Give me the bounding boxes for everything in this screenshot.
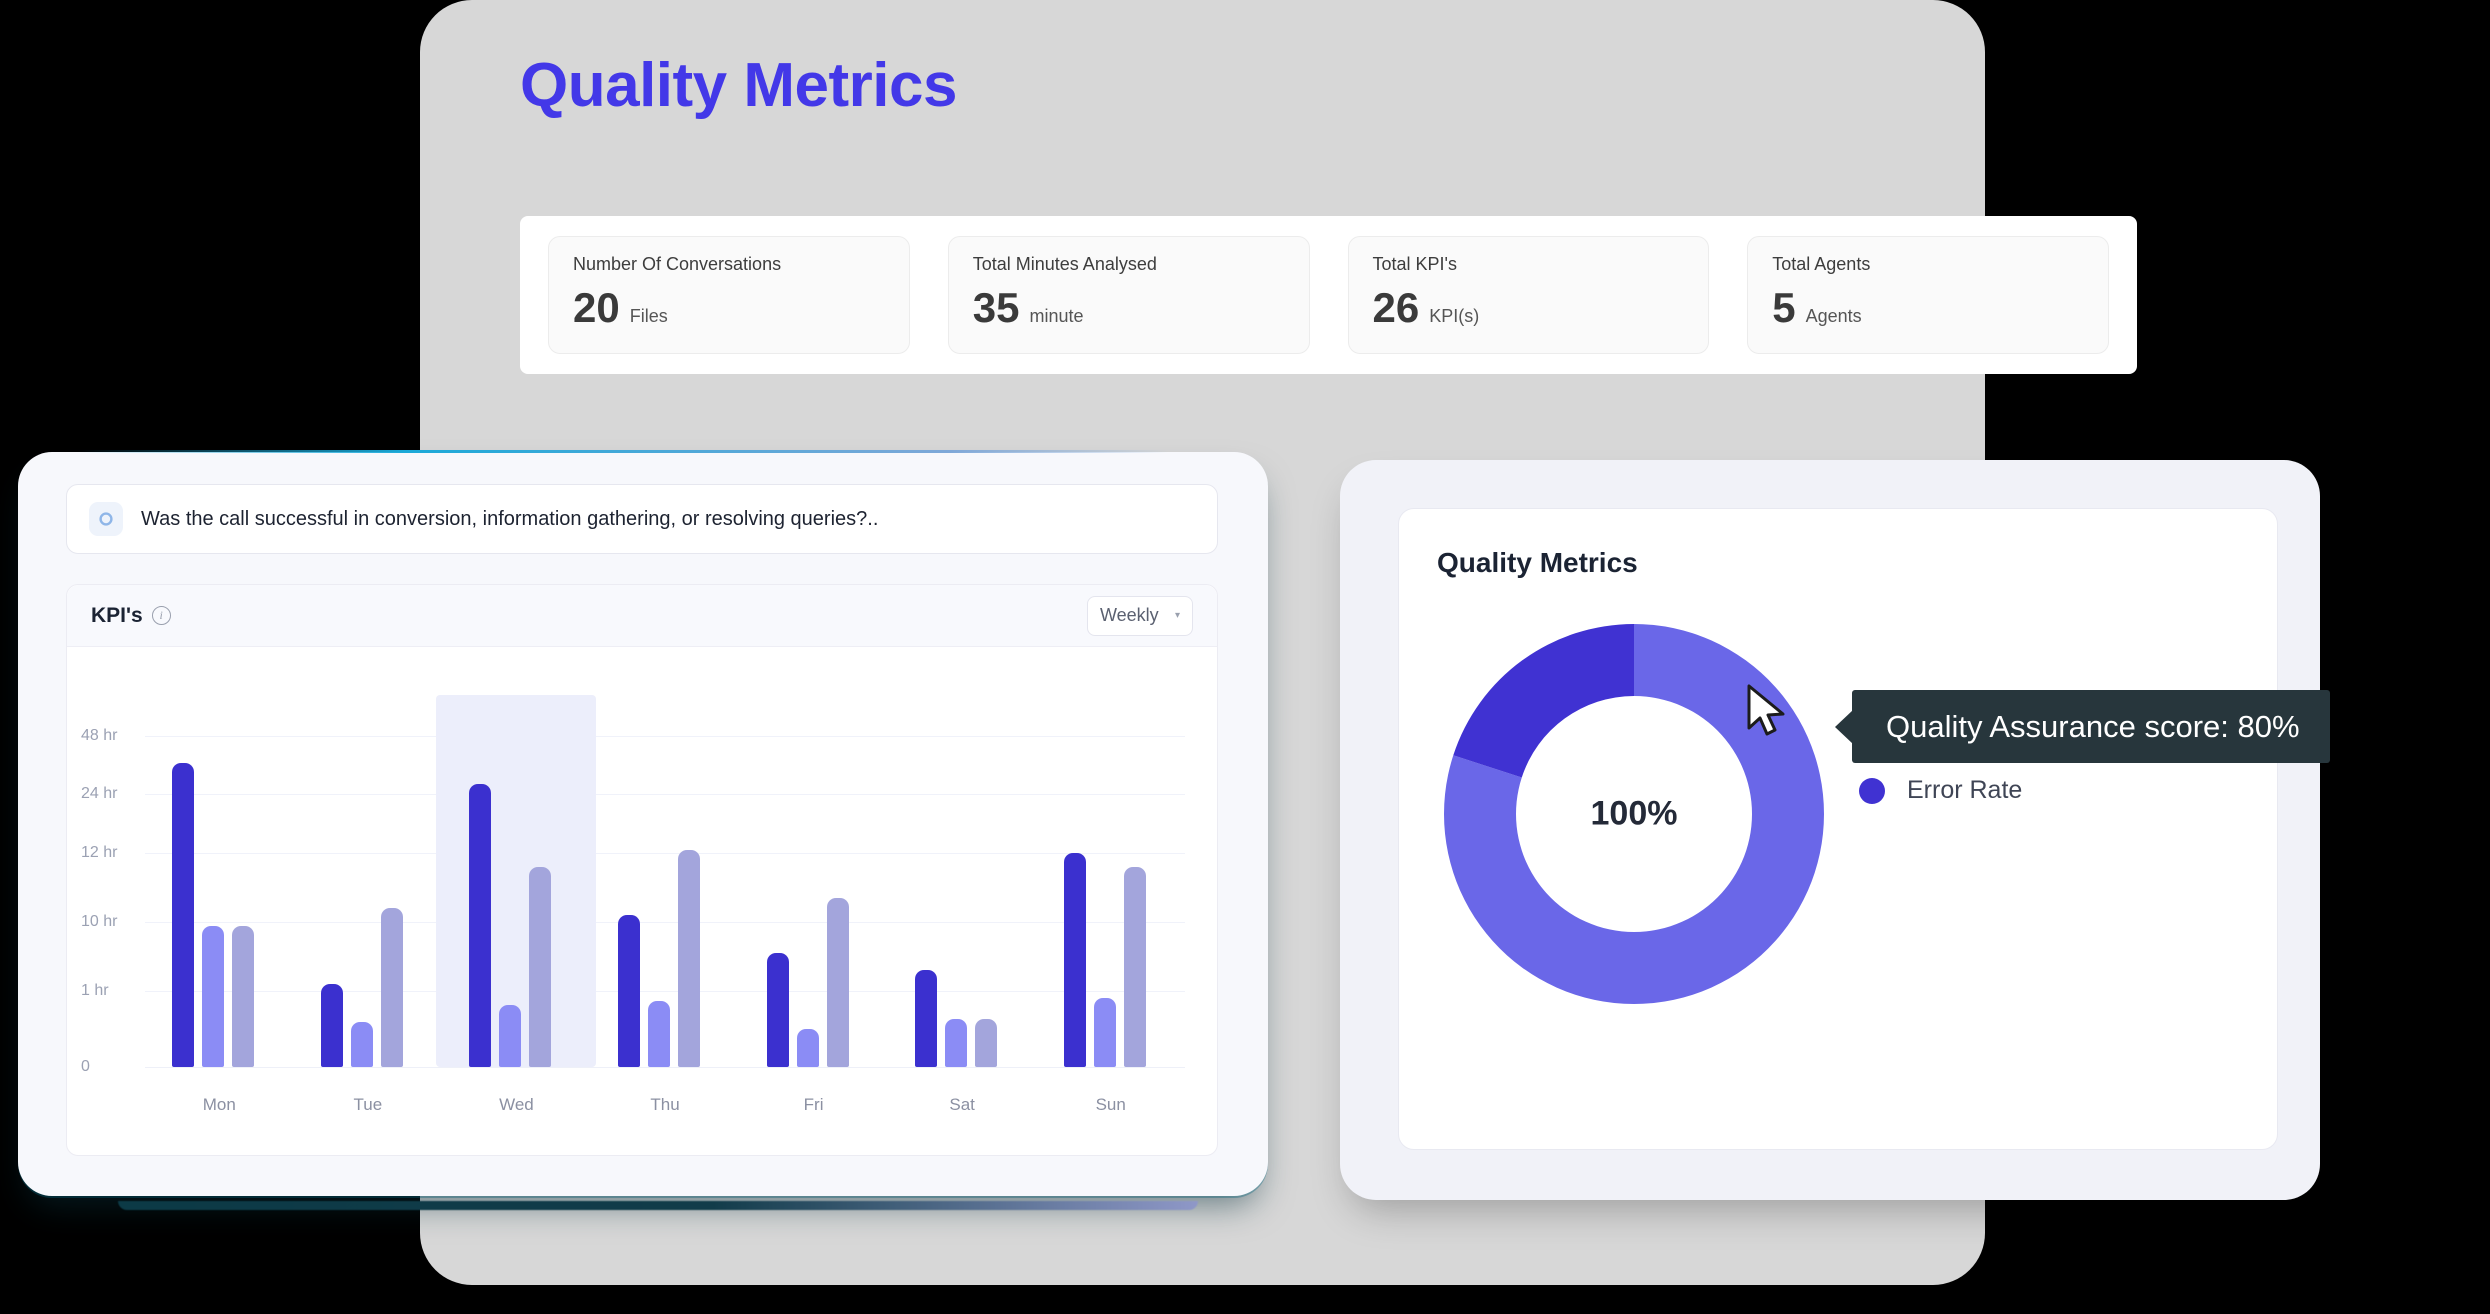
x-axis-tick-label: Mon — [203, 1095, 236, 1115]
donut-card-title: Quality Metrics — [1437, 547, 1638, 579]
stat-value-row: 26 KPI(s) — [1373, 287, 1685, 329]
bar[interactable] — [767, 953, 789, 1067]
stat-label: Number Of Conversations — [573, 255, 885, 275]
stat-card: Total Minutes Analysed 35 minute — [948, 236, 1310, 354]
chart-tooltip: Quality Assurance score: 80% — [1852, 690, 2330, 763]
y-axis-tick-label: 48 hr — [81, 727, 117, 745]
bar[interactable] — [499, 1005, 521, 1067]
y-axis-tick-label: 10 hr — [81, 913, 117, 931]
x-axis-tick-label: Wed — [499, 1095, 534, 1115]
donut-chart[interactable]: 100% — [1439, 619, 1829, 1009]
stat-label: Total Minutes Analysed — [973, 255, 1285, 275]
bar[interactable] — [232, 926, 254, 1067]
page-title: Quality Metrics — [520, 55, 957, 117]
gridline — [145, 794, 1185, 795]
stat-value-row: 5 Agents — [1772, 287, 2084, 329]
bar[interactable] — [529, 867, 551, 1067]
stat-unit: KPI(s) — [1429, 306, 1479, 327]
kpi-bar-chart: 01 hr10 hr12 hr24 hr48 hrMonTueWedThuFri… — [67, 647, 1217, 1157]
donut-slice[interactable] — [1453, 624, 1634, 778]
quality-metrics-card: Quality Metrics 100% Quality Assurance S… — [1398, 508, 2278, 1150]
gridline — [145, 736, 1185, 737]
bar[interactable] — [469, 784, 491, 1067]
bar[interactable] — [1124, 867, 1146, 1067]
stat-unit: minute — [1029, 306, 1083, 327]
chevron-down-icon: ▾ — [1175, 610, 1180, 621]
left-device-frame: Was the call successful in conversion, i… — [18, 452, 1268, 1196]
y-axis-tick-label: 1 hr — [81, 982, 109, 1000]
bar[interactable] — [172, 763, 194, 1067]
info-icon[interactable]: i — [152, 606, 171, 625]
gridline — [145, 853, 1185, 854]
donut-center-label: 100% — [1591, 795, 1678, 834]
bar[interactable] — [975, 1019, 997, 1067]
x-axis-tick-label: Tue — [354, 1095, 383, 1115]
gridline — [145, 991, 1185, 992]
question-bar[interactable]: Was the call successful in conversion, i… — [66, 484, 1218, 554]
bar[interactable] — [1094, 998, 1116, 1067]
bar[interactable] — [381, 908, 403, 1067]
kpi-title-wrap: KPI's i — [91, 604, 171, 628]
question-text: Was the call successful in conversion, i… — [141, 508, 878, 531]
stat-value: 26 — [1373, 287, 1420, 329]
y-axis-tick-label: 12 hr — [81, 844, 117, 862]
stat-card: Number Of Conversations 20 Files — [548, 236, 910, 354]
stats-strip: Number Of Conversations 20 Files Total M… — [520, 216, 2137, 374]
bar[interactable] — [321, 984, 343, 1067]
stat-value: 20 — [573, 287, 620, 329]
stat-unit: Agents — [1806, 306, 1862, 327]
bar[interactable] — [915, 970, 937, 1067]
period-select[interactable]: Weekly ▾ — [1087, 596, 1193, 636]
legend-item-error-rate[interactable]: Error Rate — [1859, 776, 2181, 805]
right-device-frame: Quality Metrics 100% Quality Assurance S… — [1340, 460, 2320, 1200]
bar[interactable] — [351, 1022, 373, 1067]
period-select-label: Weekly — [1100, 605, 1159, 626]
x-axis-tick-label: Fri — [804, 1095, 824, 1115]
bar[interactable] — [797, 1029, 819, 1067]
x-axis-tick-label: Thu — [650, 1095, 679, 1115]
x-axis-tick-label: Sat — [949, 1095, 975, 1115]
stat-value-row: 20 Files — [573, 287, 885, 329]
axis-baseline — [145, 1067, 1185, 1068]
stat-card: Total KPI's 26 KPI(s) — [1348, 236, 1710, 354]
bar[interactable] — [678, 850, 700, 1067]
stat-label: Total KPI's — [1373, 255, 1685, 275]
kpi-card: KPI's i Weekly ▾ 01 hr10 hr12 hr24 hr48 … — [66, 584, 1218, 1156]
bar[interactable] — [945, 1019, 967, 1067]
bar[interactable] — [202, 926, 224, 1067]
y-axis-tick-label: 24 hr — [81, 785, 117, 803]
legend-label: Error Rate — [1907, 776, 2022, 805]
legend-color-swatch — [1859, 778, 1885, 804]
x-axis-tick-label: Sun — [1096, 1095, 1126, 1115]
bar[interactable] — [618, 915, 640, 1067]
mouse-pointer-icon — [1745, 684, 1791, 740]
stat-value: 5 — [1772, 287, 1795, 329]
stat-card: Total Agents 5 Agents — [1747, 236, 2109, 354]
stat-label: Total Agents — [1772, 255, 2084, 275]
bar[interactable] — [1064, 853, 1086, 1067]
tooltip-text: Quality Assurance score: 80% — [1886, 709, 2300, 745]
kpi-card-header: KPI's i Weekly ▾ — [67, 585, 1217, 647]
kpi-title: KPI's — [91, 604, 143, 628]
stat-value: 35 — [973, 287, 1020, 329]
stat-value-row: 35 minute — [973, 287, 1285, 329]
bar[interactable] — [648, 1001, 670, 1067]
bar[interactable] — [827, 898, 849, 1067]
y-axis-tick-label: 0 — [81, 1058, 90, 1076]
gridline — [145, 922, 1185, 923]
sparkle-icon — [89, 502, 123, 536]
stat-unit: Files — [630, 306, 668, 327]
